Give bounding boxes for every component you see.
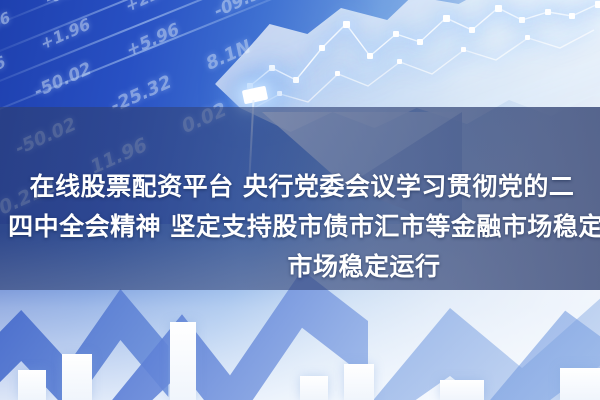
bar-column [344, 364, 374, 400]
chart-nodes [247, 1, 600, 96]
headline-block: 在线股票配资平台 央行党委会议学习贯彻党的二 四中全会精神 坚定支持股市债市汇市… [0, 107, 600, 290]
ticker-number: +4.36 [0, 8, 12, 46]
ticker-number: +4.36 [0, 0, 21, 1]
bar-column [170, 322, 196, 400]
bar-column [62, 354, 92, 400]
bar-column [560, 368, 600, 400]
bar-column [440, 380, 484, 400]
headline-line-2: 四中全会精神 坚定支持股市债市汇市等金融市场稳定 [8, 208, 600, 246]
banner-image: -09.35 -02.36 +21.36 +45.02 +4.36 -09.35… [0, 0, 600, 400]
headline-line-3: 市场稳定运行 [287, 248, 440, 286]
bar-column [300, 376, 328, 400]
bar-column [18, 370, 46, 400]
ticker-number: -02.36 [0, 51, 7, 93]
headline-line-1: 在线股票配资平台 央行党委会议学习贯彻党的二 [30, 168, 575, 206]
chart-polyline [250, 4, 598, 86]
